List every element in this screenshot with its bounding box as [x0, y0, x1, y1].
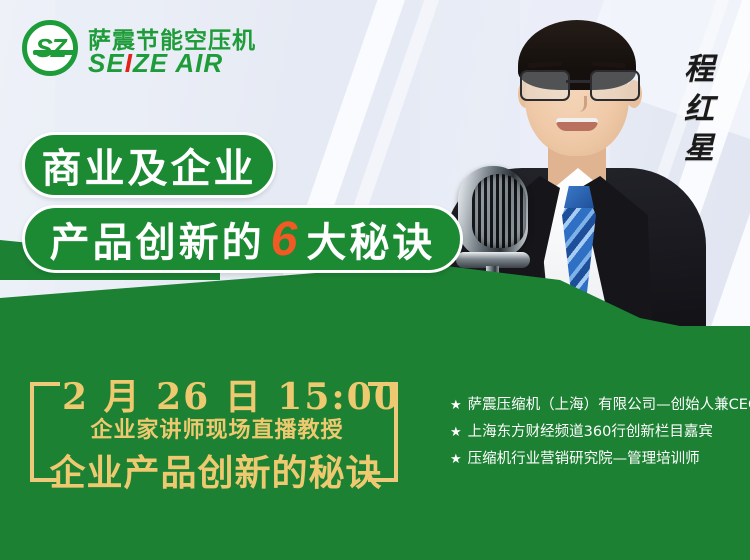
logo-monogram-bar	[33, 50, 77, 55]
event-subtitle: 企业家讲师现场直播教授	[62, 412, 372, 444]
headline-pill-2: 产品创新的6大秘诀	[22, 205, 463, 273]
microphone-grill	[472, 174, 526, 248]
lens-left	[520, 70, 570, 101]
credential-item: ★上海东方财经频道360行创新栏目嘉宾	[450, 419, 740, 446]
microphone-head	[458, 166, 528, 258]
speaker-name-char-2: 红	[676, 90, 722, 130]
headline-pill-1: 商业及企业	[22, 132, 276, 198]
headline-line-1: 商业及企业	[42, 136, 257, 194]
credential-item: ★萨震压缩机（上海）有限公司—创始人兼CEO	[450, 392, 740, 419]
speaker-name-calligraphy: 程 红 星	[676, 50, 722, 169]
nose	[570, 96, 587, 112]
credentials-list: ★萨震压缩机（上海）有限公司—创始人兼CEO ★上海东方财经频道360行创新栏目…	[450, 392, 740, 473]
logo-en-accent: I	[125, 48, 133, 78]
brand-logo: SZ 萨震节能空压机 SEIZE AIR	[22, 18, 252, 78]
lens-right	[590, 70, 640, 101]
logo-en-part2: ZE AIR	[133, 48, 223, 78]
mouth	[556, 118, 598, 131]
promo-poster: SZ 萨震节能空压机 SEIZE AIR 商业及企业 产品创新的6大秘诀 程 红…	[0, 0, 750, 560]
credential-text: 萨震压缩机（上海）有限公司—创始人兼CEO	[468, 397, 750, 413]
headline-line-2-after: 大秘诀	[306, 210, 435, 268]
credential-item: ★压缩机行业营销研究院—管理培训师	[450, 446, 740, 473]
logo-en-part1: SE	[88, 48, 125, 78]
star-icon: ★	[450, 425, 462, 440]
logo-monogram-text: SZ	[27, 35, 73, 61]
speaker-name-char-1: 程	[676, 50, 722, 90]
logo-monogram-icon: SZ	[22, 20, 78, 76]
necktie-knot	[564, 186, 594, 208]
speaker-name-char-3: 星	[676, 129, 722, 169]
event-topic: 企业产品创新的秘诀	[38, 444, 394, 496]
star-icon: ★	[450, 398, 462, 413]
glasses-bridge	[566, 80, 590, 83]
credential-text: 上海东方财经频道360行创新栏目嘉宾	[468, 424, 713, 440]
headline-number: 6	[265, 212, 307, 267]
star-icon: ★	[450, 452, 462, 467]
headline-line-2-before: 产品创新的	[50, 210, 265, 268]
logo-english-name: SEIZE AIR	[88, 48, 223, 79]
eyeglasses-icon	[518, 70, 638, 98]
credential-text: 压缩机行业营销研究院—管理培训师	[468, 451, 700, 467]
